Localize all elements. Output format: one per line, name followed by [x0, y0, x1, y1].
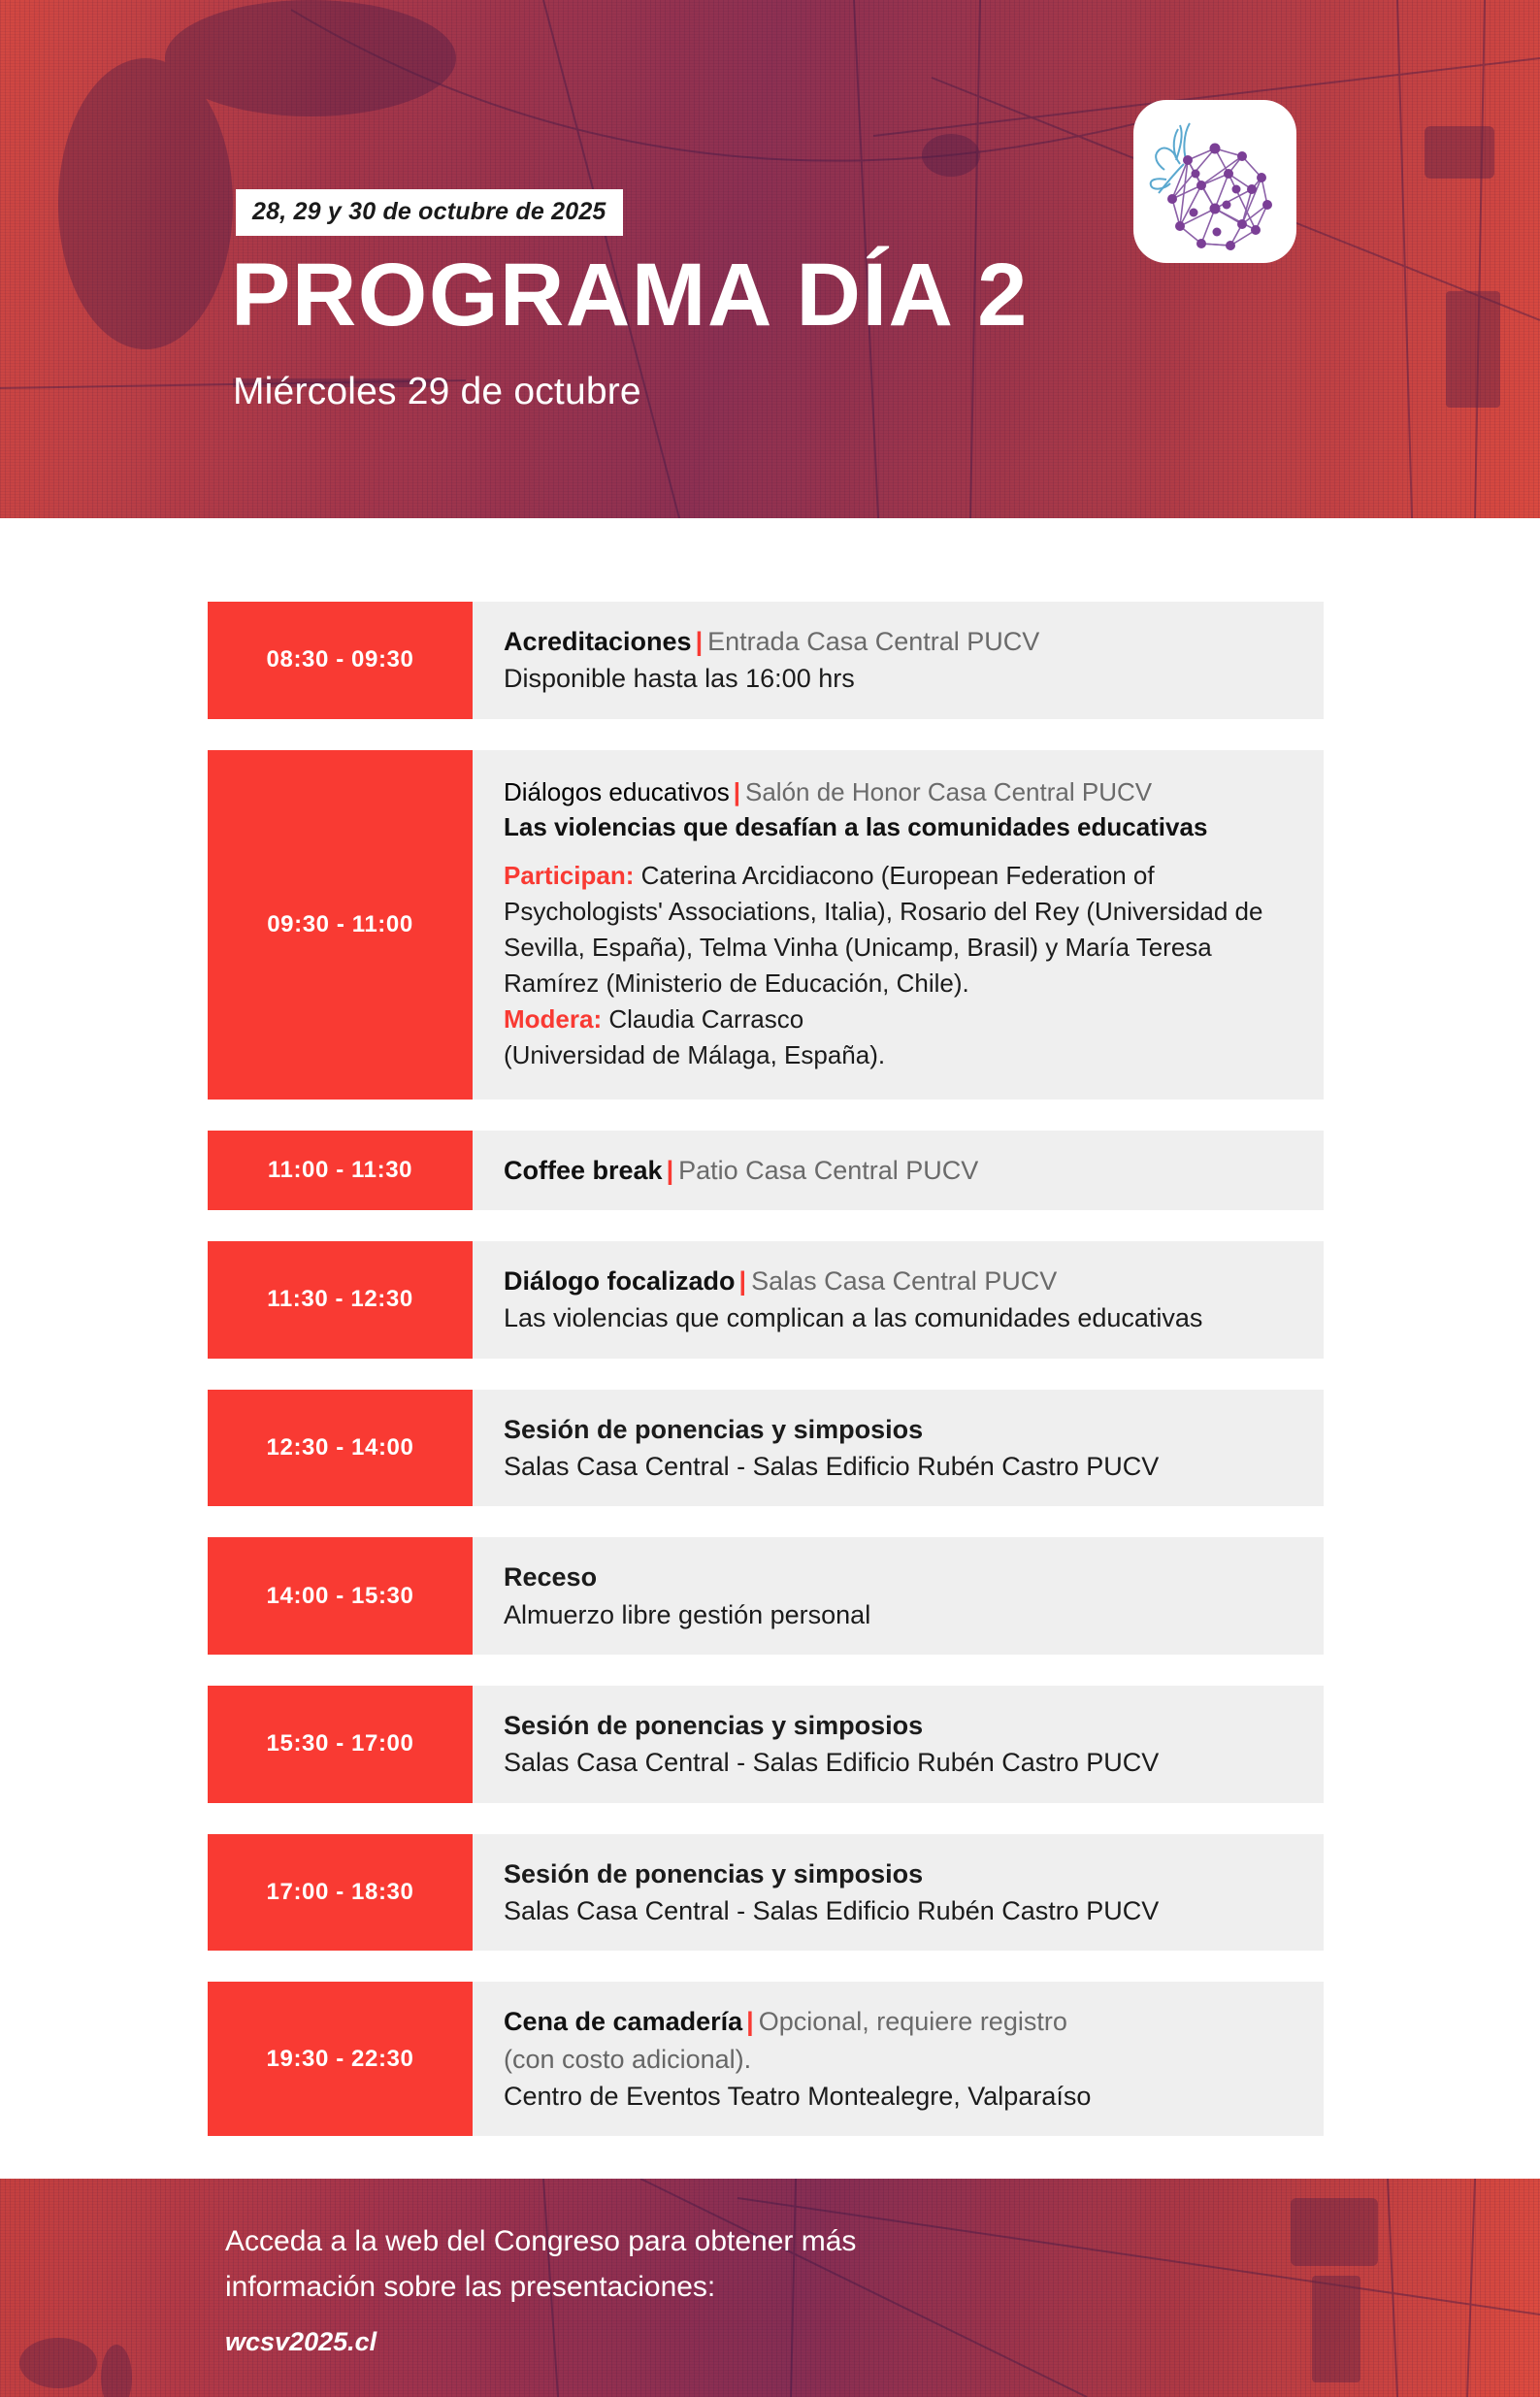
row-detail-secondary: Centro de Eventos Teatro Montealegre, Va… [504, 2078, 1298, 2115]
separator: | [736, 1266, 752, 1296]
venue-text: Patio Casa Central PUCV [678, 1156, 978, 1185]
activity-title: Acreditaciones [504, 627, 692, 656]
activity-title: Sesión de ponencias y simposios [504, 1411, 1298, 1448]
time-badge: 08:30 - 09:30 [208, 602, 473, 719]
separator: | [730, 777, 745, 806]
row-detail: Las violencias que complican a las comun… [504, 1299, 1298, 1336]
schedule-row[interactable]: 15:30 - 17:00 Sesión de ponencias y simp… [208, 1686, 1324, 1803]
poster-header: 28, 29 y 30 de octubre de 2025 PROGRAMA … [0, 0, 1540, 518]
session-subtitle: Las violencias que desafían a las comuni… [504, 809, 1298, 844]
row-headline: Diálogos educativos|Salón de Honor Casa … [504, 774, 1298, 809]
time-badge: 15:30 - 17:00 [208, 1686, 473, 1803]
separator: | [663, 1156, 679, 1185]
schedule-row[interactable]: 11:00 - 11:30 Coffee break|Patio Casa Ce… [208, 1131, 1324, 1210]
activity-title: Diálogos educativos [504, 777, 730, 806]
time-badge: 11:00 - 11:30 [208, 1131, 473, 1210]
activity-title: Receso [504, 1559, 1298, 1595]
footer-message-line1: Acceda a la web del Congreso para obtene… [225, 2219, 856, 2265]
schedule-row[interactable]: 12:30 - 14:00 Sesión de ponencias y simp… [208, 1390, 1324, 1507]
moderator-label: Modera: [504, 1004, 602, 1034]
row-detail: Almuerzo libre gestión personal [504, 1596, 1298, 1633]
schedule-row[interactable]: 14:00 - 15:30 Receso Almuerzo libre gest… [208, 1537, 1324, 1655]
separator: | [692, 627, 708, 656]
schedule-row[interactable]: 09:30 - 11:00 Diálogos educativos|Salón … [208, 750, 1324, 1100]
time-badge: 14:00 - 15:30 [208, 1537, 473, 1655]
congress-website-url[interactable]: wcsv2025.cl [225, 2327, 377, 2357]
row-content: Sesión de ponencias y simposios Salas Ca… [473, 1686, 1324, 1803]
venue-text: Salas Casa Central PUCV [751, 1266, 1057, 1296]
row-content: Diálogo focalizado|Salas Casa Central PU… [473, 1241, 1324, 1359]
congress-logo [1133, 100, 1296, 263]
moderator-affiliation: (Universidad de Málaga, España). [504, 1037, 1298, 1073]
moderator-text: Claudia Carrasco [608, 1004, 803, 1034]
row-content: Cena de camadería|Opcional, requiere reg… [473, 1982, 1324, 2136]
footer-message: Acceda a la web del Congreso para obtene… [225, 2219, 856, 2310]
schedule-row[interactable]: 11:30 - 12:30 Diálogo focalizado|Salas C… [208, 1241, 1324, 1359]
program-poster: 28, 29 y 30 de octubre de 2025 PROGRAMA … [0, 0, 1540, 2397]
row-detail: Salas Casa Central - Salas Edificio Rubé… [504, 1892, 1298, 1929]
row-content: Coffee break|Patio Casa Central PUCV [473, 1131, 1324, 1210]
schedule-row[interactable]: 19:30 - 22:30 Cena de camadería|Opcional… [208, 1982, 1324, 2136]
activity-title: Sesión de ponencias y simposios [504, 1855, 1298, 1892]
separator: | [742, 2007, 759, 2036]
schedule-row[interactable]: 08:30 - 09:30 Acreditaciones|Entrada Cas… [208, 602, 1324, 719]
activity-title: Diálogo focalizado [504, 1266, 736, 1296]
time-badge: 11:30 - 12:30 [208, 1241, 473, 1359]
row-content: Receso Almuerzo libre gestión personal [473, 1537, 1324, 1655]
row-content: Acreditaciones|Entrada Casa Central PUCV… [473, 602, 1324, 719]
time-badge: 19:30 - 22:30 [208, 1982, 473, 2136]
activity-title: Coffee break [504, 1156, 663, 1185]
row-content: Sesión de ponencias y simposios Salas Ca… [473, 1390, 1324, 1507]
row-detail: (con costo adicional). [504, 2041, 1298, 2078]
row-headline: Coffee break|Patio Casa Central PUCV [504, 1152, 1298, 1189]
participants-label: Participan: [504, 861, 634, 890]
activity-title: Cena de camadería [504, 2007, 742, 2036]
activity-title: Sesión de ponencias y simposios [504, 1707, 1298, 1744]
row-headline: Diálogo focalizado|Salas Casa Central PU… [504, 1263, 1298, 1299]
row-detail: Salas Casa Central - Salas Edificio Rubé… [504, 1744, 1298, 1781]
schedule-list: 08:30 - 09:30 Acreditaciones|Entrada Cas… [208, 602, 1324, 2167]
network-graph-icon [1167, 144, 1272, 251]
footer-message-line2: información sobre las presentaciones: [225, 2265, 856, 2311]
row-headline: Cena de camadería|Opcional, requiere reg… [504, 2003, 1298, 2040]
time-badge: 12:30 - 14:00 [208, 1390, 473, 1507]
row-content: Sesión de ponencias y simposios Salas Ca… [473, 1834, 1324, 1952]
page-subtitle: Miércoles 29 de octubre [233, 371, 641, 413]
time-badge: 17:00 - 18:30 [208, 1834, 473, 1952]
moderator-block: Modera: Claudia Carrasco [504, 1001, 1298, 1037]
row-content: Diálogos educativos|Salón de Honor Casa … [473, 750, 1324, 1100]
venue-text: Opcional, requiere registro [759, 2007, 1067, 2036]
venue-text: Salón de Honor Casa Central PUCV [745, 777, 1152, 806]
page-title: PROGRAMA DÍA 2 [231, 250, 1029, 340]
time-badge: 09:30 - 11:00 [208, 750, 473, 1100]
venue-text: Entrada Casa Central PUCV [707, 627, 1039, 656]
participants-block: Participan: Caterina Arcidiacono (Europe… [504, 858, 1298, 1001]
row-headline: Acreditaciones|Entrada Casa Central PUCV [504, 623, 1298, 660]
schedule-row[interactable]: 17:00 - 18:30 Sesión de ponencias y simp… [208, 1834, 1324, 1952]
row-detail: Disponible hasta las 16:00 hrs [504, 660, 1298, 697]
row-detail: Salas Casa Central - Salas Edificio Rubé… [504, 1448, 1298, 1485]
event-date-badge: 28, 29 y 30 de octubre de 2025 [236, 189, 623, 236]
